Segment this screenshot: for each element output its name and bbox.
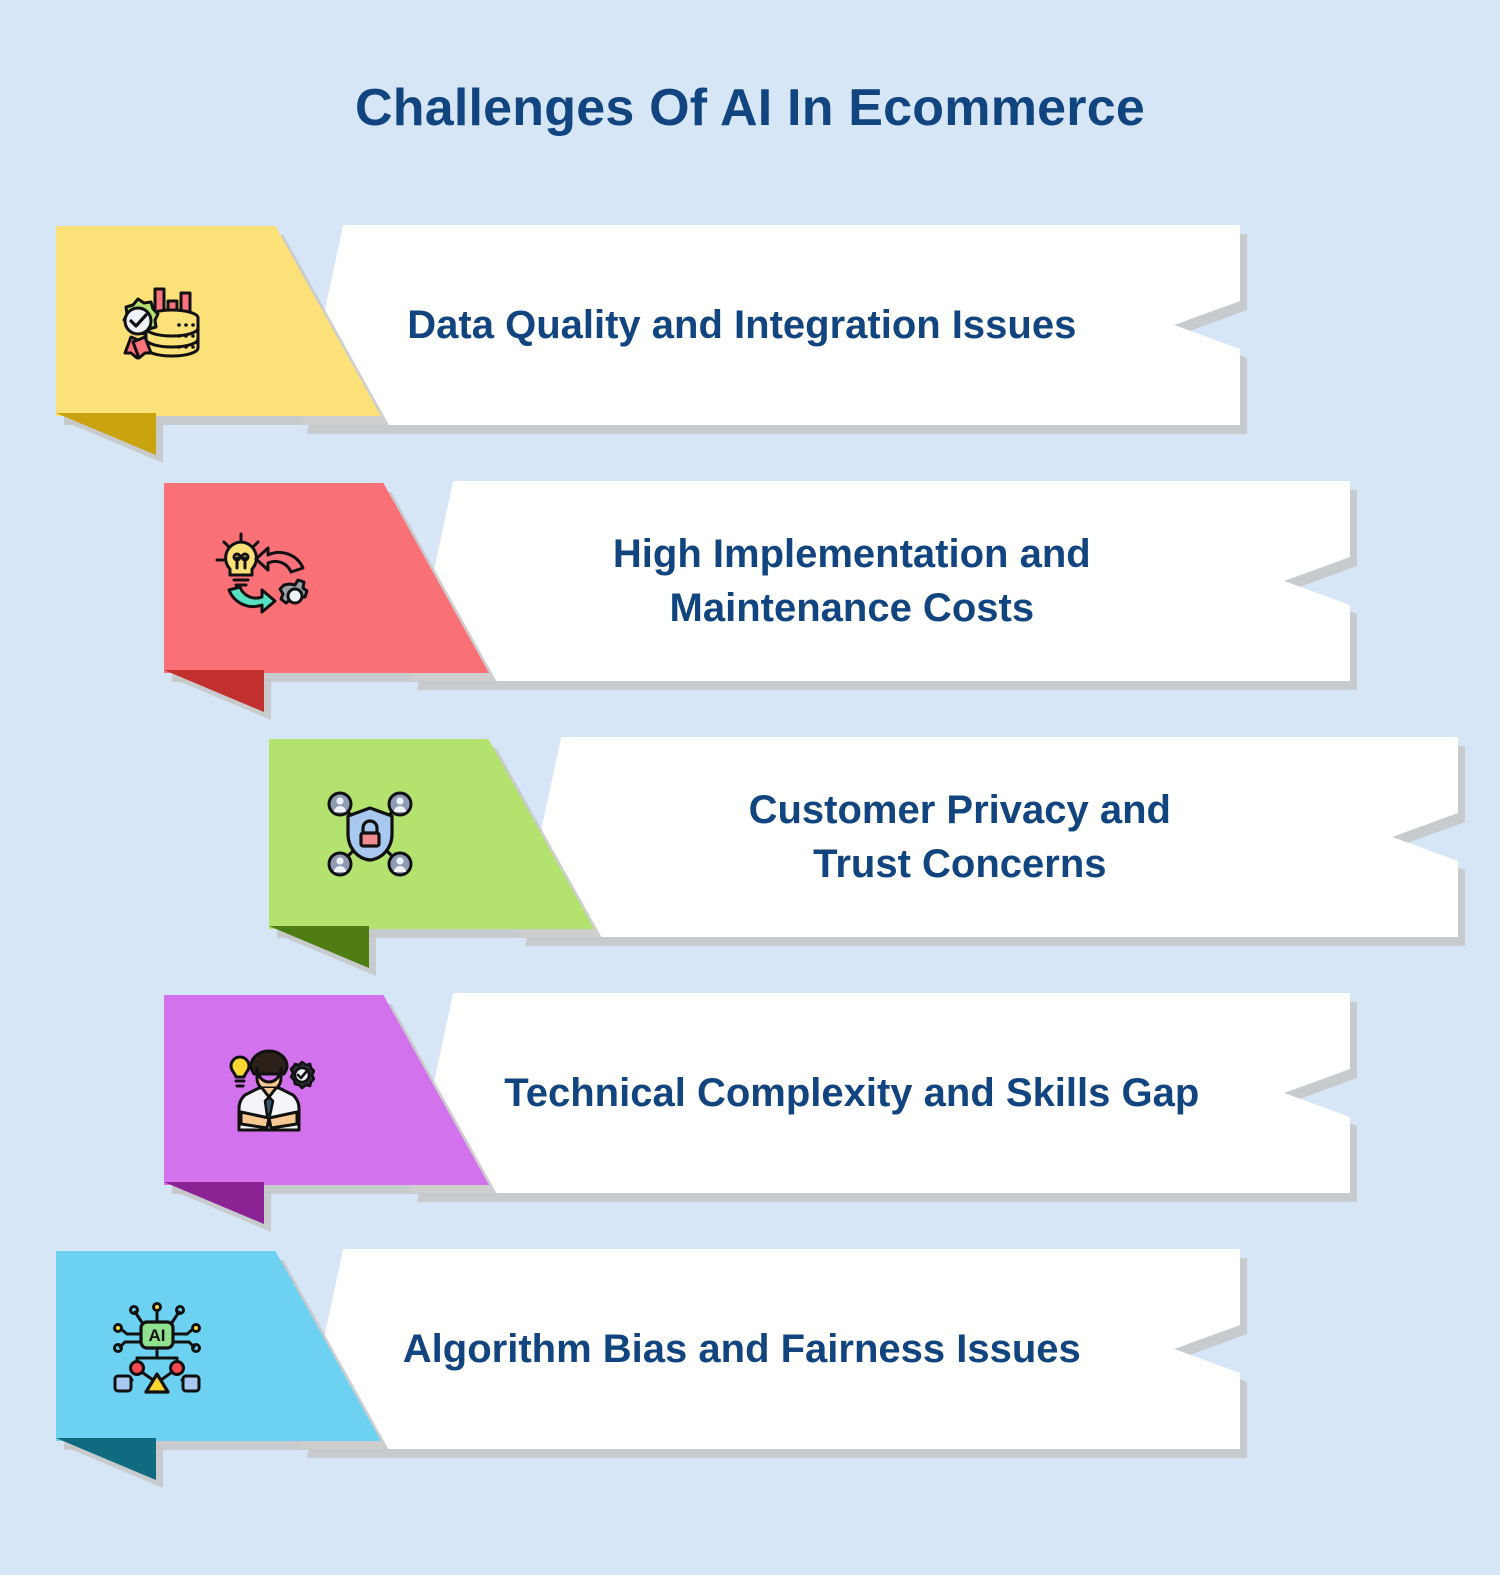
expert-person-gear-bulb-icon <box>164 995 366 1185</box>
infographic-root: Challenges Of AI In Ecommerce Data Quali… <box>0 0 1500 1575</box>
fold-surface <box>56 1438 156 1480</box>
challenge-tile-3[interactable] <box>269 739 594 929</box>
tile-fold-4 <box>164 1182 264 1224</box>
challenge-label-3: Customer Privacy and Trust Concerns <box>518 737 1458 937</box>
challenge-label-5: Algorithm Bias and Fairness Issues <box>300 1249 1240 1449</box>
challenge-banner-1[interactable]: Data Quality and Integration Issues <box>300 225 1240 425</box>
challenge-tile-4[interactable] <box>164 995 489 1185</box>
database-quality-badge-icon <box>56 226 258 416</box>
challenge-banner-2[interactable]: High Implementation and Maintenance Cost… <box>410 481 1350 681</box>
challenge-tile-2[interactable] <box>164 483 489 673</box>
challenge-tile-1[interactable] <box>56 226 381 416</box>
tile-fold-3 <box>269 926 369 968</box>
tile-fold-5 <box>56 1438 156 1480</box>
fold-surface <box>164 1182 264 1224</box>
challenge-banner-5[interactable]: Algorithm Bias and Fairness Issues <box>300 1249 1240 1449</box>
challenge-label-2: High Implementation and Maintenance Cost… <box>410 481 1350 681</box>
challenge-banner-3[interactable]: Customer Privacy and Trust Concerns <box>518 737 1458 937</box>
challenge-tile-5[interactable]: AI <box>56 1251 381 1441</box>
challenge-label-1: Data Quality and Integration Issues <box>300 225 1240 425</box>
page-title: Challenges Of AI In Ecommerce <box>0 78 1500 138</box>
challenge-label-4: Technical Complexity and Skills Gap <box>410 993 1350 1193</box>
ai-chip-network-icon: AI <box>56 1251 258 1441</box>
shield-lock-users-icon <box>269 739 471 929</box>
svg-text:AI: AI <box>148 1326 165 1345</box>
challenge-banner-4[interactable]: Technical Complexity and Skills Gap <box>410 993 1350 1193</box>
lightbulb-gear-cycle-icon <box>164 483 366 673</box>
tile-fold-1 <box>56 413 156 455</box>
tile-fold-2 <box>164 670 264 712</box>
